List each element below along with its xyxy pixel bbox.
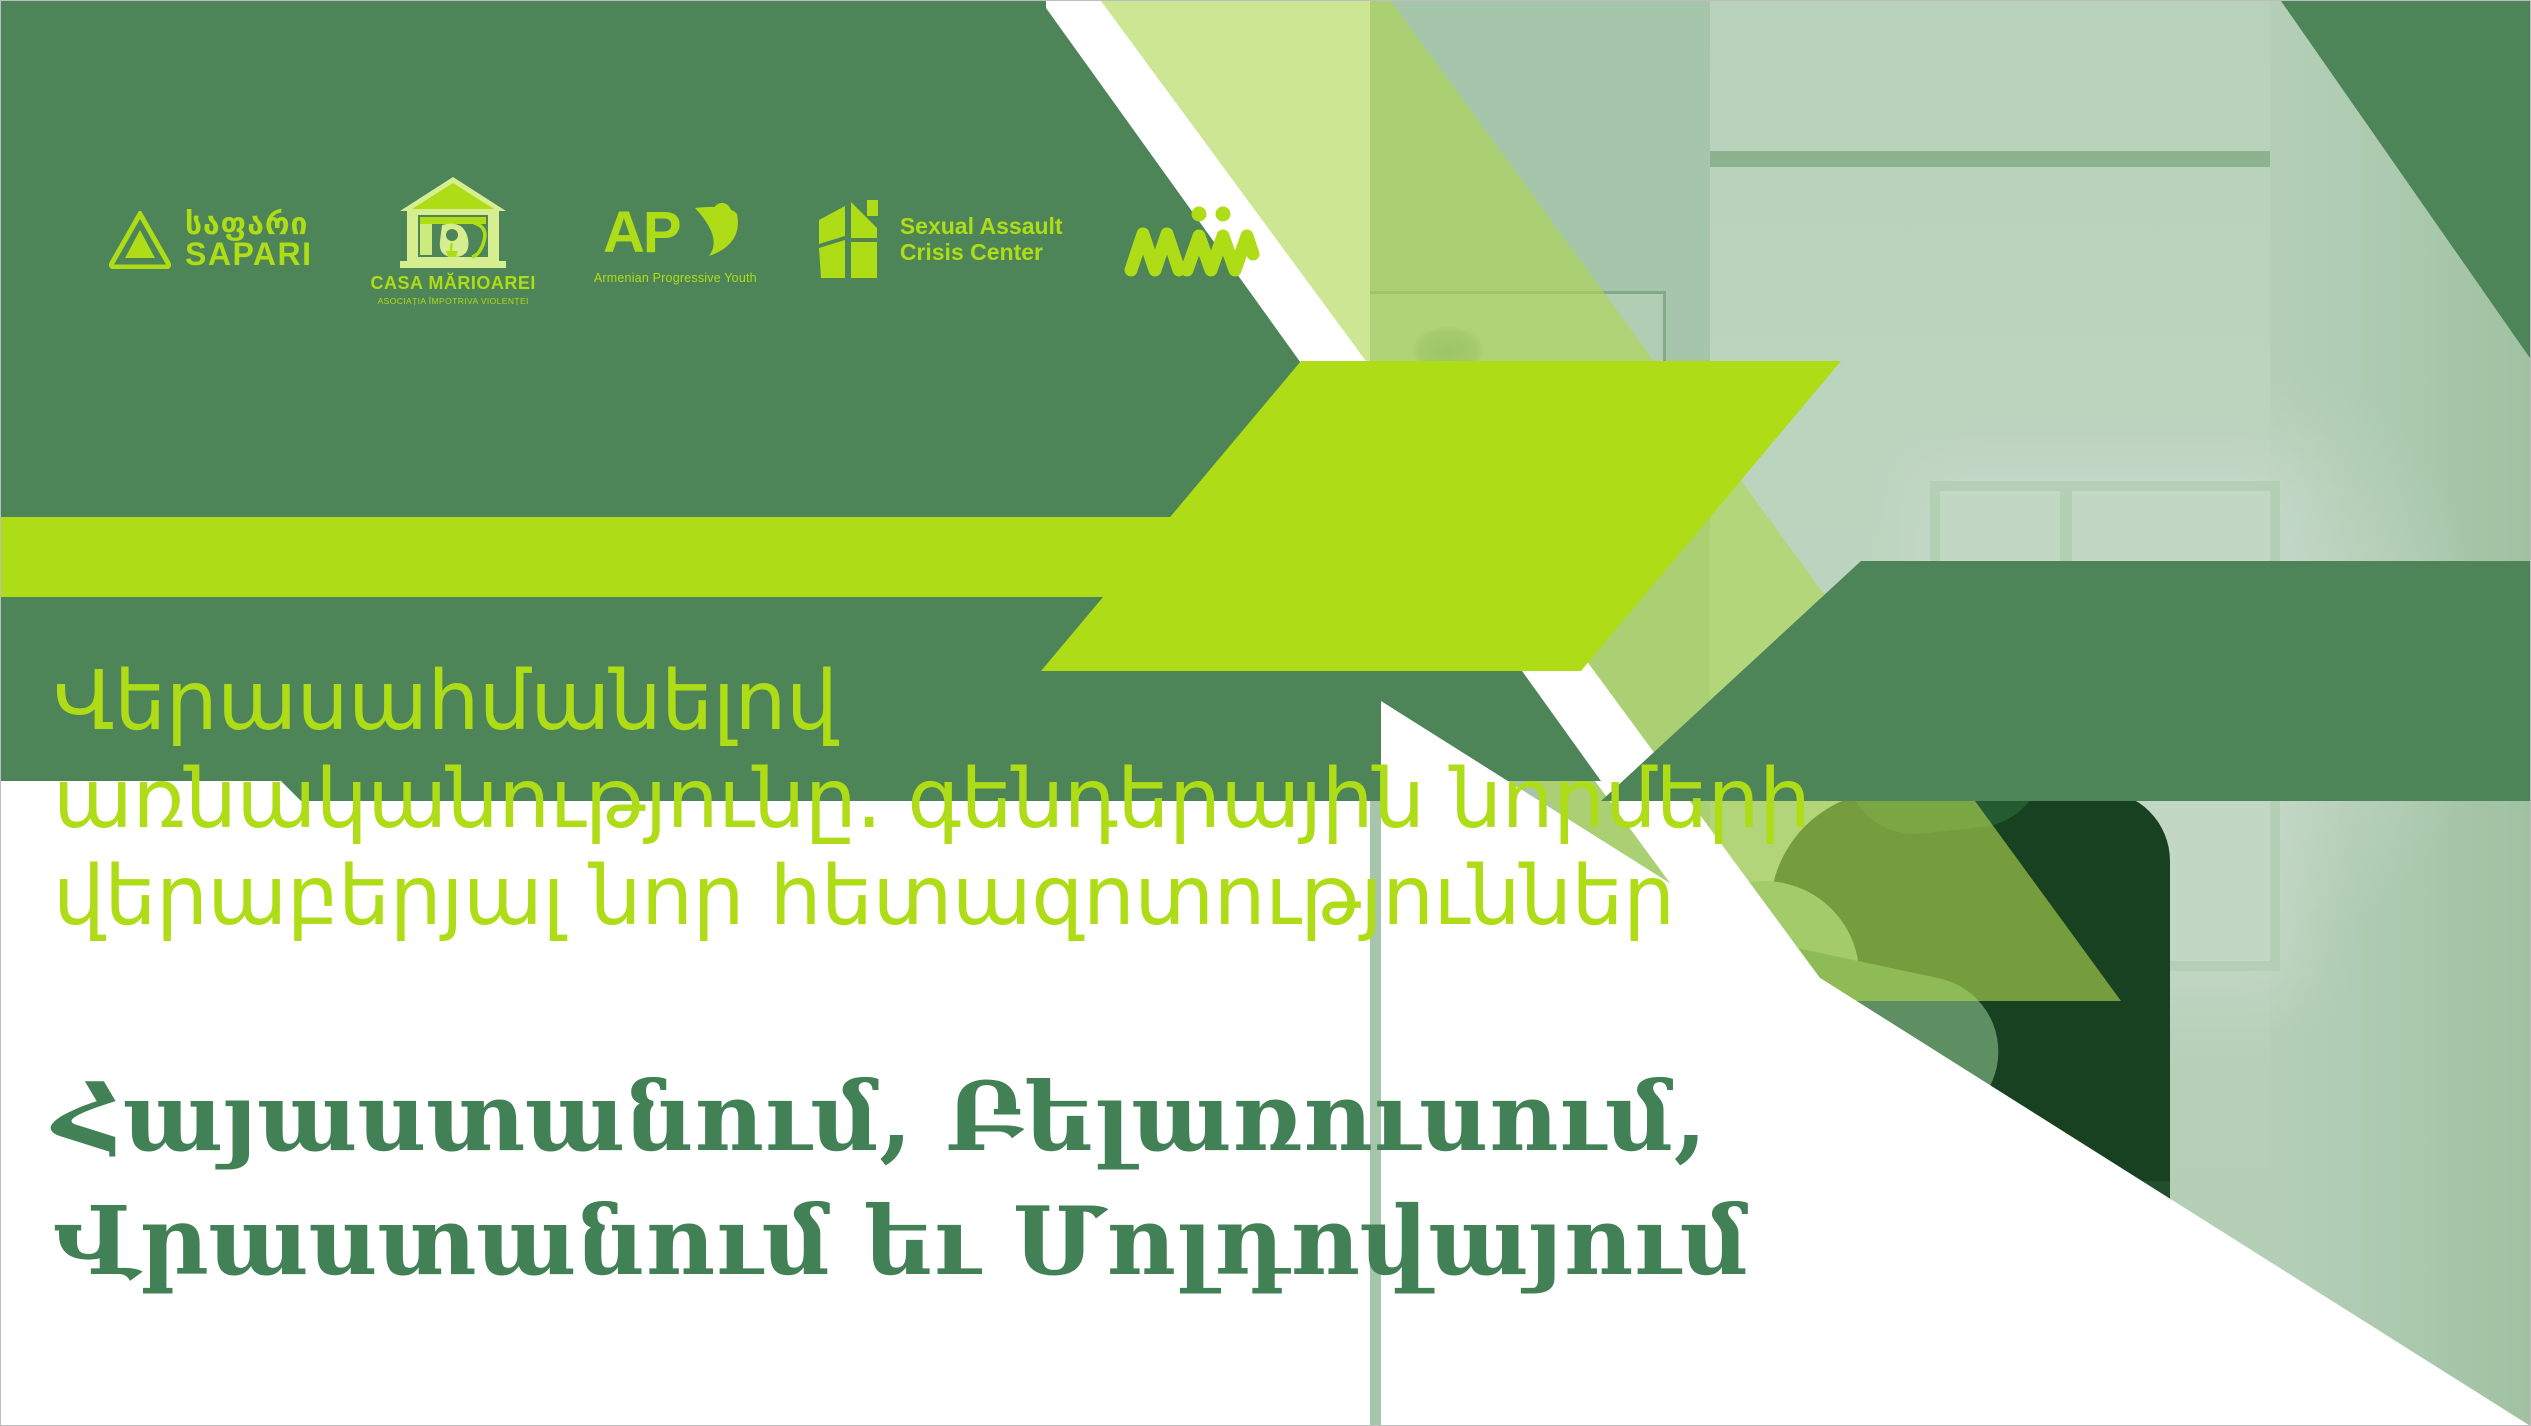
- sacc-name-line1: Sexual Assault: [900, 214, 1063, 240]
- logo-sexual-assault-crisis-center: Sexual Assault Crisis Center: [815, 198, 1063, 282]
- subheadline-block: Հայաստանում, Բելառուսում, Վրաստանում եւ …: [53, 1056, 2053, 1303]
- logo-mww: [1121, 202, 1263, 278]
- poster-root: საფარი SAPARI: [0, 0, 2531, 1426]
- headline-line-2: առնականությունը. գենդերային նորմերի: [53, 751, 1813, 849]
- logo-sapari: საფარი SAPARI: [109, 211, 313, 270]
- headline-line-1: Վերասահմանելով: [53, 653, 1813, 751]
- logo-casa-marioarei: CASA MĂRIOAREI ASOCIAȚIA ÎMPOTRIVA VIOLE…: [371, 175, 536, 306]
- bright-green-bar: [1, 517, 1161, 597]
- apy-logo-icon: AP: [603, 196, 748, 270]
- subheadline-line-1: Հայաստանում, Բելառուսում,: [53, 1056, 2053, 1180]
- sapari-name-latin: SAPARI: [185, 239, 313, 269]
- apy-tagline: Armenian Progressive Youth: [594, 271, 757, 285]
- sapari-triangle-icon: [109, 211, 171, 269]
- svg-text:AP: AP: [603, 200, 680, 265]
- partner-logo-row: საფარი SAPARI: [109, 169, 1263, 311]
- sacc-house-icon: [815, 198, 887, 282]
- sacc-name-line2: Crisis Center: [900, 240, 1063, 266]
- mww-people-icon: [1121, 202, 1263, 278]
- casa-name: CASA MĂRIOAREI: [371, 273, 536, 294]
- headline-block: Վերասահմանելով առնականությունը. գենդերայ…: [53, 653, 1813, 946]
- headline-line-3: վերաբերյալ նոր հետազոտություններ: [53, 848, 1813, 946]
- sapari-name-georgian: საფარი: [185, 211, 313, 240]
- logo-apy: AP Armenian Progressive Youth: [594, 196, 757, 285]
- casa-house-icon: [394, 175, 512, 271]
- subheadline-line-2: Վրաստանում եւ Մոլդովայում: [53, 1180, 2053, 1304]
- casa-tagline: ASOCIAȚIA ÎMPOTRIVA VIOLENȚEI: [378, 296, 529, 306]
